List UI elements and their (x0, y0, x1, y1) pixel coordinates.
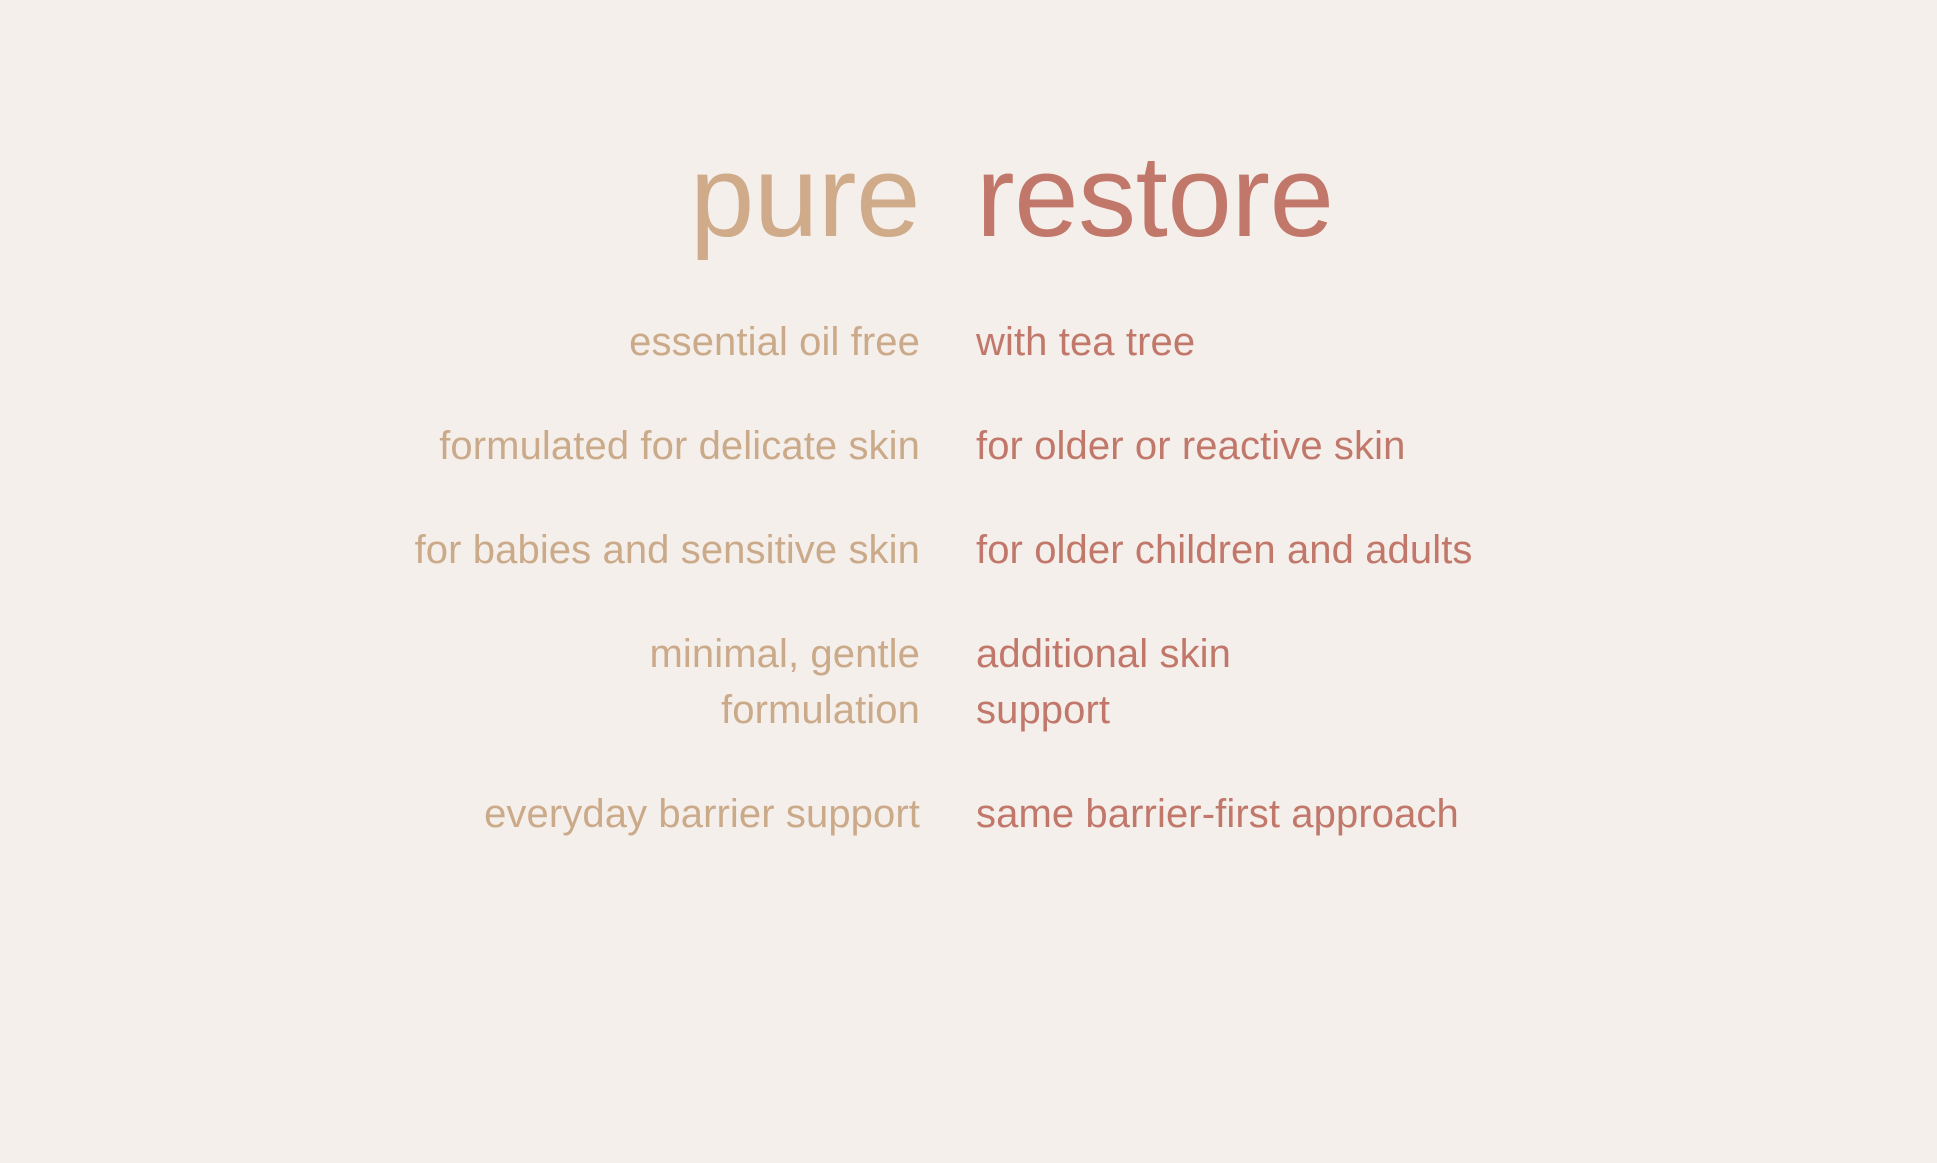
restore-feature-line: support (976, 686, 1937, 734)
pure-feature-line: essential oil free (0, 318, 920, 366)
comparison-row: everyday barrier support same barrier-fi… (0, 790, 1937, 838)
restore-feature-line: same barrier-first approach (976, 790, 1937, 838)
pure-feature-line: for babies and sensitive skin (0, 526, 920, 574)
pure-feature-cell: everyday barrier support (0, 790, 920, 838)
restore-feature-cell: same barrier-first approach (976, 790, 1937, 838)
pure-feature-line: everyday barrier support (0, 790, 920, 838)
restore-feature-cell: additional skin support (976, 630, 1937, 734)
restore-feature-line: additional skin (976, 630, 1937, 678)
restore-feature-cell: for older children and adults (976, 526, 1937, 574)
pure-feature-cell: formulated for delicate skin (0, 422, 920, 470)
pure-feature-cell: minimal, gentle formulation (0, 630, 920, 734)
comparison-row: formulated for delicate skin for older o… (0, 422, 1937, 470)
pure-feature-cell: for babies and sensitive skin (0, 526, 920, 574)
comparison-row: minimal, gentle formulation additional s… (0, 630, 1937, 734)
comparison-row: for babies and sensitive skin for older … (0, 526, 1937, 574)
comparison-slide: pure restore essential oil free with tea… (0, 0, 1937, 1163)
pure-feature-line: formulated for delicate skin (0, 422, 920, 470)
restore-feature-line: for older or reactive skin (976, 422, 1937, 470)
restore-feature-line: with tea tree (976, 318, 1937, 366)
pure-feature-line: formulation (0, 686, 920, 734)
pure-feature-cell: essential oil free (0, 318, 920, 366)
title-pure: pure (0, 128, 920, 265)
restore-feature-cell: with tea tree (976, 318, 1937, 366)
restore-feature-line: for older children and adults (976, 526, 1937, 574)
slide-title: pure restore (0, 128, 1937, 265)
title-restore: restore (976, 128, 1937, 265)
comparison-table: essential oil free with tea tree formula… (0, 318, 1937, 838)
restore-feature-cell: for older or reactive skin (976, 422, 1937, 470)
comparison-row: essential oil free with tea tree (0, 318, 1937, 366)
pure-feature-line: minimal, gentle (0, 630, 920, 678)
